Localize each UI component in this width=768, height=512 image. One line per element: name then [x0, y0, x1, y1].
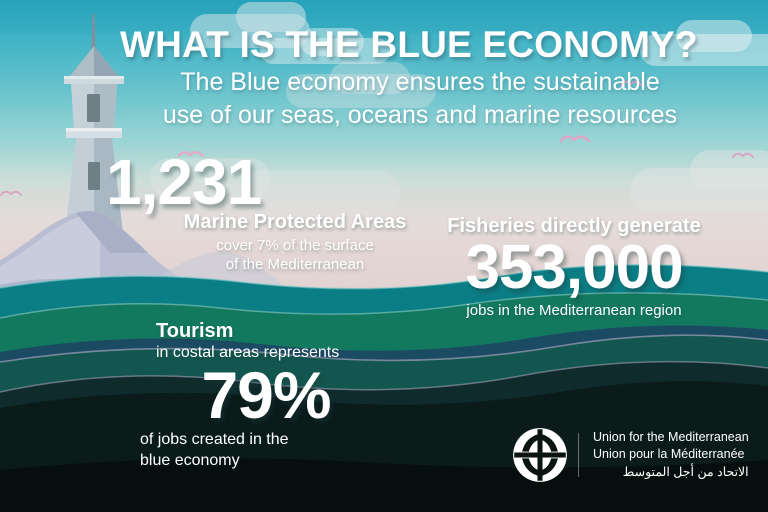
page-title: WHAT IS THE BLUE ECONOMY?	[120, 24, 720, 66]
page-subtitle-line2: use of our seas, oceans and marine resou…	[110, 99, 730, 132]
page-subtitle: The Blue economy ensures the sustainable…	[110, 66, 730, 132]
logo-divider	[578, 433, 579, 477]
stat-tourism-number: 79%	[140, 364, 400, 427]
stat-mpa-number: 1,231	[90, 152, 420, 213]
infographic-poster: WHAT IS THE BLUE ECONOMY? The Blue econo…	[0, 0, 768, 512]
ufm-logo[interactable]: Union for the Mediterranean Union pour l…	[512, 427, 749, 483]
stat-tourism: Tourism in costal areas represents 79% o…	[140, 320, 400, 472]
logo-text: Union for the Mediterranean Union pour l…	[593, 429, 749, 481]
stat-mpa-description-line1: cover 7% of the surface	[170, 236, 420, 255]
stat-tourism-description-line1: of jobs created in the	[140, 429, 400, 451]
stat-tourism-description-line2: blue economy	[140, 450, 400, 472]
stat-tourism-label: Tourism	[140, 320, 400, 343]
logo-name-fr: Union pour la Méditerranée	[593, 446, 749, 463]
stat-fisheries-number: 353,000	[424, 239, 724, 298]
stat-mpa-description-line2: of the Mediterranean	[170, 255, 420, 274]
page-subtitle-line1: The Blue economy ensures the sustainable	[110, 66, 730, 99]
stat-marine-protected-areas: 1,231 Marine Protected Areas cover 7% of…	[90, 152, 420, 274]
stat-tourism-description: of jobs created in the blue economy	[140, 429, 400, 472]
logo-name-en: Union for the Mediterranean	[593, 429, 749, 446]
ufm-emblem-icon	[512, 427, 568, 483]
logo-name-ar: الاتحاد من أجل المتوسط	[593, 464, 749, 481]
stat-mpa-description: cover 7% of the surface of the Mediterra…	[90, 236, 420, 274]
stat-fisheries: Fisheries directly generate 353,000 jobs…	[424, 215, 724, 319]
stat-fisheries-description: jobs in the Mediterranean region	[424, 302, 724, 319]
